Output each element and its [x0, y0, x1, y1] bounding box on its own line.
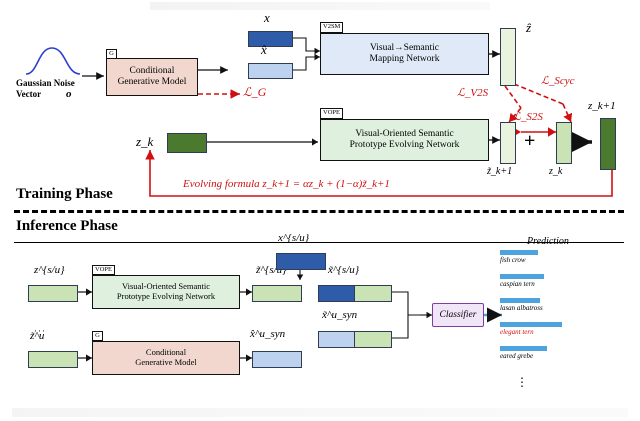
zk1-label: z_k+1 — [588, 100, 616, 112]
prediction-bar — [500, 346, 547, 351]
generator-tag-inference: G — [92, 331, 103, 341]
prediction-list: fish crowcaspian ternlasan albatrosseleg… — [500, 250, 636, 390]
prediction-bar — [500, 322, 562, 327]
prediction-row: fish crow — [500, 250, 636, 270]
vope-label: Visual-Oriented Semantic Prototype Evolv… — [350, 129, 460, 151]
prediction-label: caspian tern — [500, 280, 636, 288]
ztilde-k1-bar — [500, 122, 516, 164]
training-phase-title: Training Phase — [16, 186, 113, 203]
inference-phase-title: Inference Phase — [16, 218, 118, 235]
prediction-title: Prediction — [527, 236, 569, 247]
bottom-caption-strip — [12, 408, 628, 417]
prediction-bar — [500, 274, 544, 279]
v2sm-label: Visual→Semantic Mapping Network — [370, 43, 440, 65]
noise-symbol: o — [66, 88, 72, 100]
conditional-generative-model-box[interactable]: Conditional Generative Model — [106, 58, 198, 96]
z-su-bar — [28, 285, 78, 302]
noise-label-line1: Gaussian Noise — [16, 78, 75, 88]
xtilde-syn-u-semantic-part — [354, 331, 392, 348]
loss-g-label: ℒ_G — [243, 85, 266, 100]
xhat-syn-u-label: x̂^u_syn — [250, 328, 285, 340]
prediction-row: eared grebe — [500, 346, 636, 366]
zhat-label: ẑ — [526, 20, 531, 36]
zk1-bar — [600, 118, 616, 170]
vope-tag: VOPE — [320, 108, 343, 119]
xtilde-syn-u-label: x̃^u_syn — [322, 309, 357, 321]
ztilde-u-bar — [28, 351, 78, 368]
gaussian-curve-icon — [24, 44, 82, 76]
ztilde-u-dots: ··· — [34, 326, 46, 336]
prediction-label: fish crow — [500, 256, 636, 264]
x-feature-bar — [248, 31, 293, 47]
x-su-bar — [276, 253, 326, 270]
phase-divider — [14, 210, 624, 213]
zk-bar-label: z_k — [549, 166, 562, 177]
prediction-row: elegant tern — [500, 322, 636, 342]
zk-input-bar — [167, 133, 207, 153]
prediction-bar — [500, 250, 538, 255]
prediction-dots: ⋮ — [516, 375, 528, 390]
figure-canvas: Gaussian Noise Vector o Conditional Gene… — [0, 0, 640, 421]
xtilde-su-visual-part — [318, 285, 356, 302]
ztilde-k1-label: z̃_k+1 — [487, 166, 512, 177]
loss-s2s-label: ℒ_S2S — [513, 110, 543, 123]
vope-box[interactable]: Visual-Oriented Semantic Prototype Evolv… — [320, 119, 489, 161]
prediction-row: lasan albatross — [500, 298, 636, 318]
prediction-bar — [500, 298, 540, 303]
evolving-formula-label: Evolving formula z_k+1 = αz_k + (1−α)z̃_… — [183, 178, 390, 190]
xhat-syn-u-bar — [252, 351, 302, 368]
classifier-box[interactable]: Classifier — [432, 303, 484, 327]
generator-tag: G — [106, 49, 117, 59]
zk-bar — [556, 122, 572, 164]
xtilde-syn-u-visual-part — [318, 331, 356, 348]
top-caption-strip — [150, 2, 490, 10]
vope-box-inference[interactable]: Visual-Oriented Semantic Prototype Evolv… — [92, 275, 240, 309]
prediction-label: eared grebe — [500, 352, 636, 360]
zhat-bar — [500, 28, 516, 86]
prediction-label: elegant tern — [500, 328, 636, 336]
loss-v2s-label: ℒ_V2S — [457, 86, 488, 99]
xhat-feature-bar — [248, 63, 293, 79]
classifier-label: Classifier — [440, 310, 477, 320]
vope-inference-label: Visual-Oriented Semantic Prototype Evolv… — [117, 282, 215, 302]
prediction-label: lasan albatross — [500, 304, 636, 312]
x-label: x — [264, 10, 270, 26]
plus-sign: + — [524, 130, 535, 153]
prediction-row: caspian tern — [500, 274, 636, 294]
v2sm-box[interactable]: Visual→Semantic Mapping Network — [320, 33, 489, 75]
zk-input-label: z_k — [136, 134, 153, 150]
conditional-generative-model-label: Conditional Generative Model — [118, 66, 187, 88]
xtilde-su-semantic-part — [354, 285, 392, 302]
vope-tag-inference: VOPE — [92, 265, 115, 275]
v2sm-tag: V2SM — [320, 22, 343, 33]
cgm-inference-label: Conditional Generative Model — [135, 348, 197, 368]
z-su-label: z^{s/u} — [34, 264, 65, 276]
loss-scyc-label: ℒ_Scyc — [541, 74, 575, 87]
ztilde-su-bar — [252, 285, 302, 302]
xtilde-su-label: x̃^{s/u} — [328, 264, 359, 276]
conditional-generative-model-box-inference[interactable]: Conditional Generative Model — [92, 341, 240, 375]
xhat-label: x̂ — [261, 42, 267, 58]
noise-label-line2: Vector — [16, 89, 41, 99]
x-su-label: x^{s/u} — [278, 232, 309, 244]
